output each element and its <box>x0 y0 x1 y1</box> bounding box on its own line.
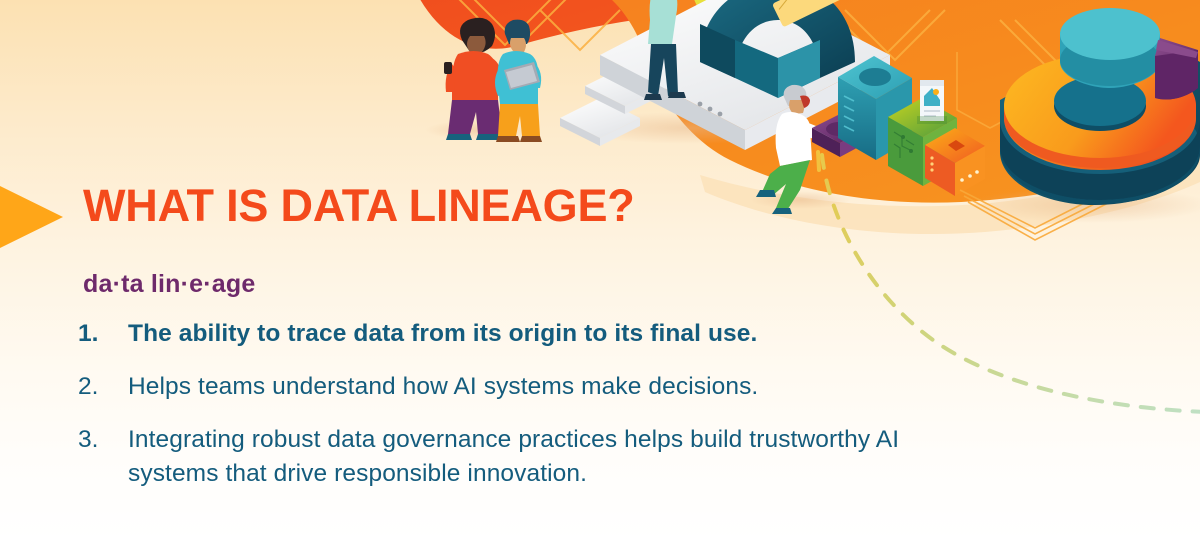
green-server-node <box>888 80 957 186</box>
orange-circuit-traces <box>455 0 1115 96</box>
list-item: 1. The ability to trace data from its or… <box>78 317 978 351</box>
list-item-text: Integrating robust data governance pract… <box>128 423 978 491</box>
page-title: WHAT IS DATA LINEAGE? <box>83 180 635 232</box>
person-woman <box>444 18 502 140</box>
ground-shadow <box>970 187 1200 223</box>
pronunciation-label: da·ta lin·e·age <box>83 270 255 299</box>
ground-shadow <box>570 112 810 144</box>
person-on-platform <box>644 0 686 100</box>
list-item-number: 1. <box>78 317 128 351</box>
two-people-standing <box>444 18 542 142</box>
list-item-number: 3. <box>78 423 128 457</box>
person-man-with-laptop <box>495 20 542 142</box>
large-data-stack-cylinder <box>1000 8 1200 205</box>
person-on-platform-with-server <box>600 0 890 150</box>
list-item-text: The ability to trace data from its origi… <box>128 317 978 351</box>
yellow-green-wedge <box>690 0 790 80</box>
list-item-text: Helps teams understand how AI systems ma… <box>128 370 978 404</box>
definition-list: 1. The ability to trace data from its or… <box>78 317 978 510</box>
infographic-canvas: WHAT IS DATA LINEAGE? da·ta lin·e·age 1.… <box>0 0 1200 541</box>
title-row: WHAT IS DATA LINEAGE? da·ta lin·e·age <box>0 182 1000 254</box>
floating-platform-tiles <box>560 66 665 146</box>
teal-server-node <box>838 56 912 160</box>
ground-shadow <box>425 120 535 140</box>
list-item-number: 2. <box>78 370 128 404</box>
dashed-lineage-curve <box>818 152 819 170</box>
list-item: 3. Integrating robust data governance pr… <box>78 423 978 491</box>
text-content-block: WHAT IS DATA LINEAGE? da·ta lin·e·age 1.… <box>0 182 1000 254</box>
list-item: 2. Helps teams understand how AI systems… <box>78 370 978 404</box>
arrow-right-icon <box>0 186 63 248</box>
